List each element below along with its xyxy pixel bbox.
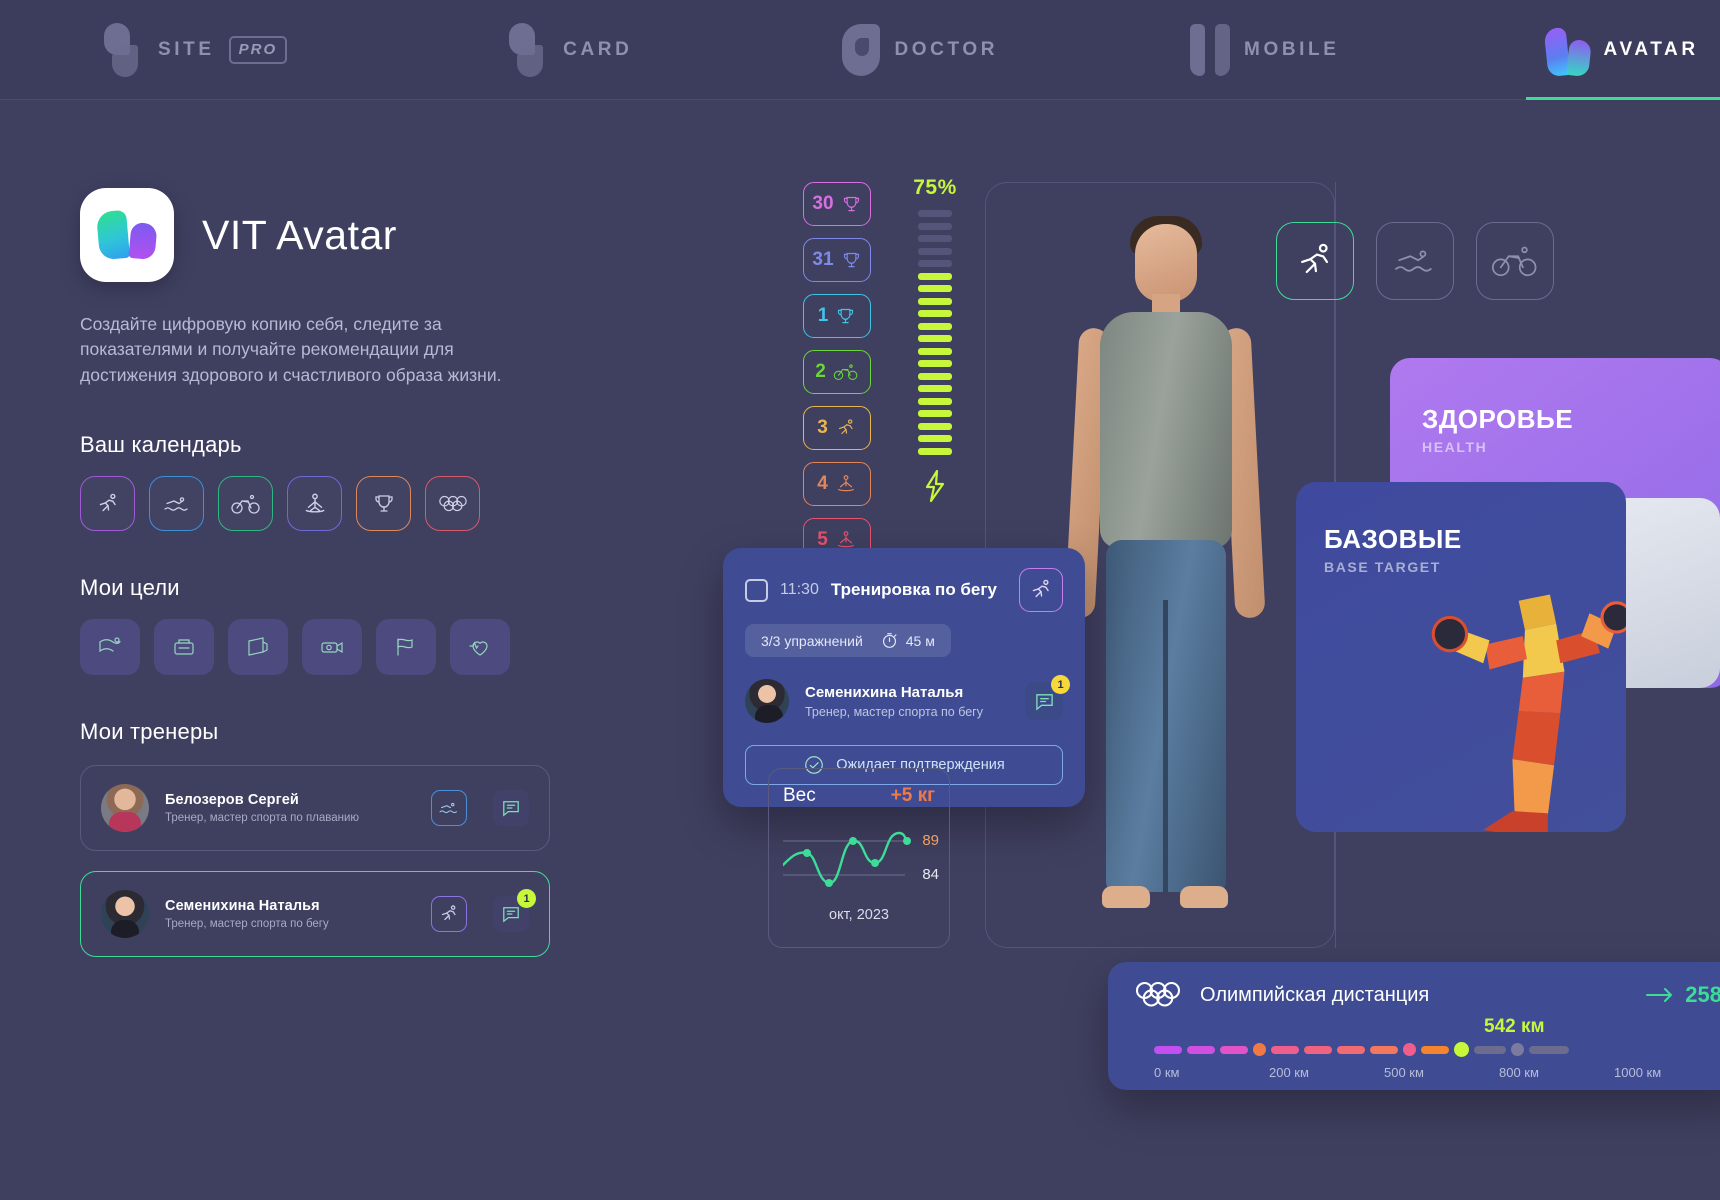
energy-battery: 75% [900,176,970,508]
trophy-icon [835,306,856,327]
workout-meta: 3/3 упражнений 45 м [745,624,951,657]
goal-chip-camera[interactable] [302,619,362,675]
achievement-badge[interactable]: 30 [803,182,871,226]
trophy-icon [841,250,862,271]
swimming-icon [1392,242,1438,280]
running-icon [1293,239,1337,283]
workout-trainer-info: Семенихина Наталья Тренер, мастер спорта… [805,684,983,719]
calendar-chip-running[interactable] [80,476,135,531]
energy-segment [918,310,952,317]
workout-trainer-role: Тренер, мастер спорта по бегу [805,705,983,719]
nav-pro-badge: PRO [229,36,288,64]
achievement-count: 1 [818,305,829,327]
figure-head [1135,224,1197,302]
arrow-right-icon [1645,986,1675,1004]
trainer-message-button[interactable]: 1 [493,896,529,932]
trainer-info: Белозеров Сергей Тренер, мастер спорта п… [165,792,415,824]
figure-legs [1106,540,1226,892]
achievement-count: 30 [812,193,833,215]
nav-item-avatar[interactable]: AVATAR [1536,0,1709,100]
swimming-icon [163,492,191,516]
nav-item-site[interactable]: SITE PRO [90,0,297,100]
olympic-scale-tick: 800 км [1499,1065,1614,1080]
running-icon [438,903,460,925]
energy-segment [918,260,952,267]
workout-checkbox[interactable] [745,579,768,602]
cycling-icon [833,362,859,382]
olympic-scale-tick: 1000 км [1614,1065,1720,1080]
card-base-subtitle: BASE TARGET [1324,559,1626,575]
app-header: VIT Avatar [80,188,550,282]
energy-segment [918,448,952,455]
card-base-title: БАЗОВЫЕ [1324,524,1626,555]
energy-segment [918,423,952,430]
energy-segment [918,348,952,355]
weight-min-label: 84 [922,866,939,883]
nav-label-mobile: MOBILE [1244,39,1340,61]
athlete-illustration [1422,582,1626,832]
workout-header: 11:30 Тренировка по бегу [745,568,1063,612]
achievements-column: 30 31 1 2 3 [803,182,871,562]
card-base-target[interactable]: БАЗОВЫЕ BASE TARGET [1296,482,1626,832]
workout-trainer-name: Семенихина Наталья [805,684,983,701]
calendar-icon-row [80,476,550,531]
cycling-icon [1491,242,1539,280]
olympic-scale: 0 км 200 км 500 км 800 км 1000 км [1154,1065,1720,1080]
energy-segments [900,210,970,455]
top-navigation: SITE PRO CARD DOCTOR MOBILE AVATAR [0,0,1720,100]
olympic-rings-icon [438,494,468,514]
avatar [101,890,149,938]
trainer-name: Белозеров Сергей [165,792,415,808]
weight-card: Вес +5 кг 89 84 окт, 2023 [768,768,950,948]
olympic-title: Олимпийская дистанция [1200,984,1429,1007]
sport-toggle-swimming[interactable] [1376,222,1454,300]
achievement-count: 3 [817,417,828,439]
achievement-badge[interactable]: 1 [803,294,871,338]
energy-segment [918,210,952,217]
energy-segment [918,273,952,280]
trainer-info: Семенихина Наталья Тренер, мастер спорта… [165,898,415,930]
trainer-message-button[interactable] [493,790,529,826]
calendar-chip-yoga[interactable] [287,476,342,531]
calendar-section-title: Ваш календарь [80,432,550,458]
nav-item-doctor[interactable]: DOCTOR [832,0,1008,100]
sport-toggle-cycling[interactable] [1476,222,1554,300]
energy-segment [918,398,952,405]
d-logo-icon [842,24,880,76]
app-description: Создайте цифровую копию себя, следите за… [80,312,550,388]
running-icon [95,491,121,517]
trophy-icon [841,194,862,215]
workout-trainer: Семенихина Наталья Тренер, мастер спорта… [745,679,1063,723]
energy-segment [918,335,952,342]
energy-segment [918,360,952,367]
achievement-count: 31 [812,249,833,271]
figure-torso [1100,312,1232,548]
running-icon [1028,577,1054,603]
goal-plan-icon [96,634,124,660]
goal-note-icon [244,634,272,660]
achievement-badge[interactable]: 31 [803,238,871,282]
workout-message-button[interactable]: 1 [1025,682,1063,720]
trainer-sport-button-swimming[interactable] [431,790,467,826]
card-health-title: ЗДОРОВЬЕ [1422,404,1720,435]
nav-item-card[interactable]: CARD [495,0,642,100]
energy-segment [918,385,952,392]
s-logo-icon [100,23,144,77]
calendar-chip-cycling[interactable] [218,476,273,531]
avatar [101,784,149,832]
weight-header: Вес +5 кг [783,785,935,807]
olympic-rings-icon [1134,980,1182,1010]
yoga-icon [835,473,857,495]
weight-delta: +5 кг [891,785,935,807]
achievement-count: 2 [815,361,826,383]
calendar-chip-olympic[interactable] [425,476,480,531]
olympic-scale-tick: 200 км [1269,1065,1384,1080]
sport-toggle-row [1276,222,1554,300]
chat-icon [501,905,521,923]
trophy-icon [372,492,396,516]
goal-chip-plan[interactable] [80,619,140,675]
energy-segment [918,235,952,242]
trainer-name: Семенихина Наталья [165,898,415,914]
goal-chip-flag[interactable] [376,619,436,675]
olympic-dashes [1154,1042,1720,1057]
workout-sport-icon-button[interactable] [1019,568,1063,612]
weight-max-label: 89 [922,832,939,849]
energy-segment [918,373,952,380]
nav-item-mobile[interactable]: MOBILE [1180,0,1350,100]
chat-icon [1034,692,1055,711]
cycling-icon [231,492,261,516]
energy-segment [918,410,952,417]
m-logo-icon [1190,24,1230,76]
goal-scale-icon [170,634,198,660]
workout-title: Тренировка по бегу [831,580,997,600]
goal-chip-scale[interactable] [154,619,214,675]
weight-line-chart [783,813,939,899]
weight-period: окт, 2023 [783,907,935,923]
sport-toggle-running[interactable] [1276,222,1354,300]
a-logo-icon [1546,24,1590,76]
goal-camera-icon [318,634,346,660]
trainer-role: Тренер, мастер спорта по плаванию [165,812,415,824]
message-count-badge: 1 [517,889,536,908]
app-root: SITE PRO CARD DOCTOR MOBILE AVATAR [0,0,1720,1200]
achievement-badge[interactable]: 2 [803,350,871,394]
trainer-card[interactable]: Белозеров Сергей Тренер, мастер спорта п… [80,765,550,851]
goal-heart-icon [466,634,494,660]
workout-duration: 45 м [906,633,935,649]
avatar [745,679,789,723]
energy-percent-label: 75% [900,176,970,200]
lightning-bolt-icon [900,469,970,508]
card-health-subtitle: HEALTH [1422,439,1720,455]
energy-segment [918,248,952,255]
energy-segment [918,223,952,230]
trainers-section-title: Мои тренеры [80,719,550,745]
nav-label-card: CARD [563,39,632,61]
nav-label-doctor: DOCTOR [894,39,998,61]
calendar-chip-swimming[interactable] [149,476,204,531]
workout-time: 11:30 [780,581,819,599]
achievement-badge[interactable]: 4 [803,462,871,506]
olympic-scale-tick: 0 км [1154,1065,1269,1080]
goal-chip-heart[interactable] [450,619,510,675]
stopwatch-icon [881,632,898,649]
energy-segment [918,323,952,330]
s-logo-icon [505,23,549,77]
olympic-current-value: 542 км [1484,1016,1545,1038]
trainer-card[interactable]: Семенихина Наталья Тренер, мастер спорта… [80,871,550,957]
page-title: VIT Avatar [202,212,397,259]
message-count-badge: 1 [1051,675,1070,694]
energy-segment [918,435,952,442]
olympic-target: 258 [1645,982,1720,1008]
nav-label-site: SITE [158,39,215,61]
trainer-sport-button-running[interactable] [431,896,467,932]
trainer-role: Тренер, мастер спорта по бегу [165,918,415,930]
left-panel: VIT Avatar Создайте цифровую копию себя,… [80,188,550,957]
achievement-badge[interactable]: 3 [803,406,871,450]
goal-flag-icon [392,634,420,660]
energy-segment [918,285,952,292]
workout-exercises: 3/3 упражнений [761,633,863,649]
swimming-icon [438,799,460,817]
weight-title: Вес [783,785,816,807]
vit-avatar-app-icon [80,188,174,282]
weight-chart: 89 84 [783,813,935,899]
olympic-progress-track[interactable]: 542 км 0 [1154,1016,1720,1080]
yoga-icon [302,491,328,517]
calendar-chip-trophy[interactable] [356,476,411,531]
olympic-scale-tick: 500 км [1384,1065,1499,1080]
olympic-distance-card: Олимпийская дистанция 258 542 км [1108,962,1720,1090]
goals-section-title: Мои цели [80,575,550,601]
figure-foot-right [1180,886,1228,908]
figure-foot-left [1102,886,1150,908]
olympic-target-value: 258 [1685,982,1720,1008]
chat-icon [501,799,521,817]
olympic-body: 542 км 0 [1134,1016,1720,1080]
running-icon [835,417,857,439]
energy-segment [918,298,952,305]
goal-chip-note[interactable] [228,619,288,675]
olympic-header: Олимпийская дистанция 258 [1134,980,1720,1010]
goals-icon-row [80,619,550,675]
nav-label-avatar: AVATAR [1604,39,1699,61]
achievement-count: 4 [817,473,828,495]
